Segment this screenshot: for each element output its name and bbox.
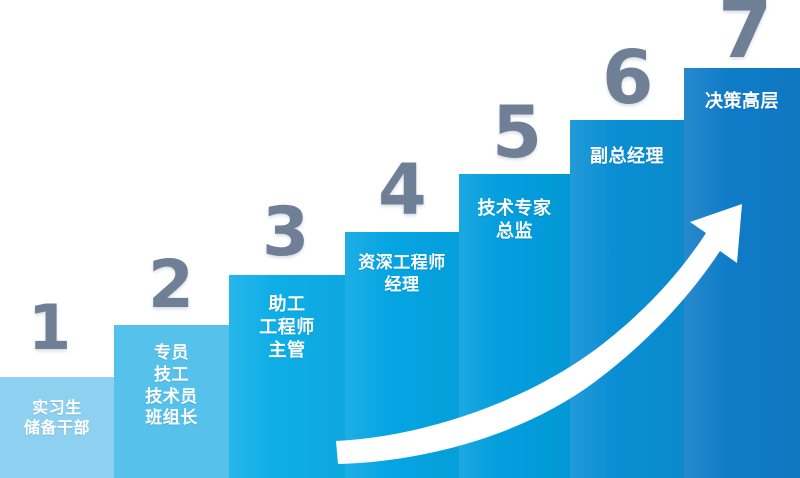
step-number-1: 1 [28, 297, 71, 359]
step-bar-5[interactable]: 技术专家 总监 [459, 174, 570, 478]
step-label-4: 资深工程师 经理 [345, 252, 459, 296]
step-number-6: 6 [602, 41, 654, 115]
step-label-6: 副总经理 [570, 145, 684, 168]
step-label-2: 专员 技工 技术员 班组长 [114, 342, 229, 429]
step-label-1: 实习生 储备干部 [0, 399, 114, 440]
step-number-7: 7 [718, 0, 772, 70]
step-bar-7[interactable]: 决策高层 [684, 68, 800, 478]
step-bar-3[interactable]: 助工 工程师 主管 [229, 275, 345, 478]
step-label-5: 技术专家 总监 [459, 197, 570, 243]
step-number-3: 3 [262, 199, 309, 267]
step-label-7: 决策高层 [684, 90, 800, 113]
step-bar-1[interactable]: 实习生 储备干部 [0, 377, 114, 478]
step-number-4: 4 [378, 155, 427, 225]
step-number-5: 5 [492, 96, 542, 168]
step-bar-4[interactable]: 资深工程师 经理 [345, 232, 459, 478]
step-bar-2[interactable]: 专员 技工 技术员 班组长 [114, 325, 229, 478]
step-number-2: 2 [148, 252, 194, 318]
step-bar-6[interactable]: 副总经理 [570, 120, 684, 478]
step-label-3: 助工 工程师 主管 [229, 293, 345, 362]
career-ladder-infographic: 实习生 储备干部专员 技工 技术员 班组长助工 工程师 主管资深工程师 经理技术… [0, 0, 800, 478]
